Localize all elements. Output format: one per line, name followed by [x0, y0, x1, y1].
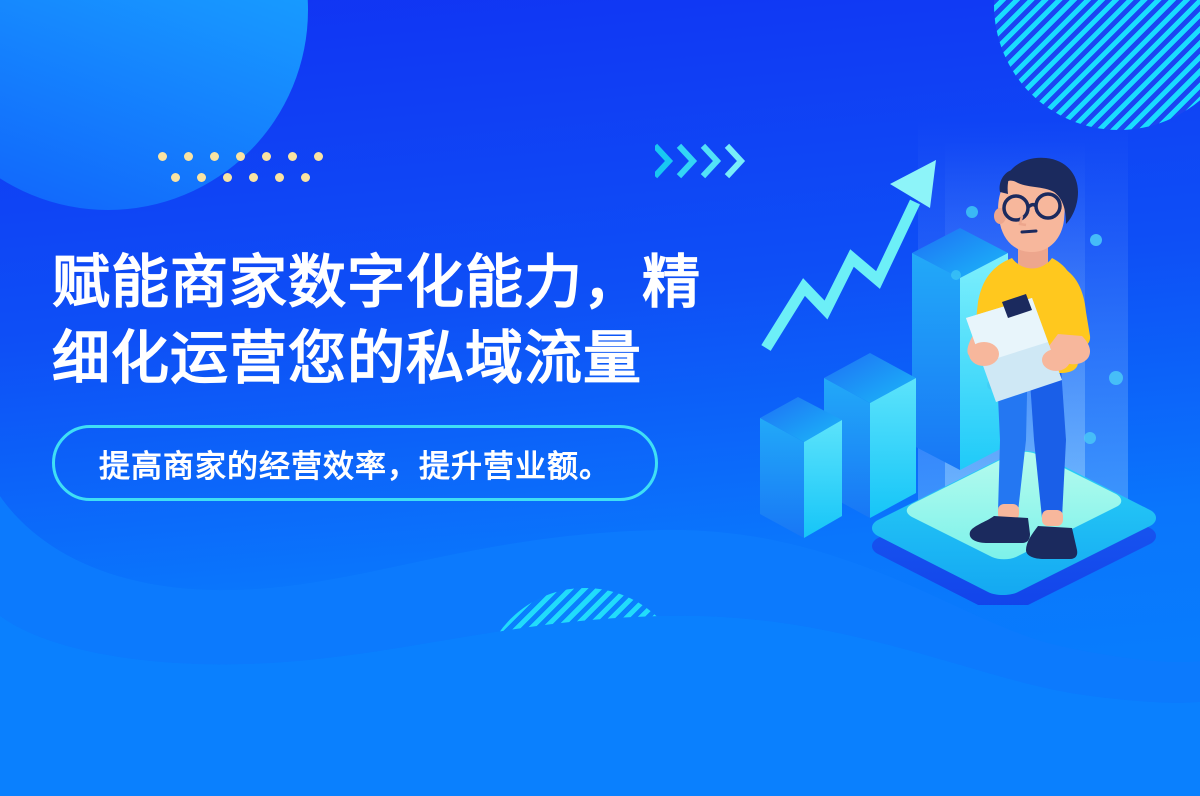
dot — [158, 152, 167, 161]
dot — [236, 152, 245, 161]
striped-circle-bottom-center — [480, 588, 690, 796]
page-headline: 赋能商家数字化能力，精 细化运营您的私域流量 — [52, 245, 792, 397]
dot — [197, 173, 206, 182]
subtitle-pill: 提高商家的经营效率，提升营业额。 — [52, 425, 658, 501]
dot — [171, 173, 180, 182]
chevron-right-icons — [655, 142, 755, 182]
dot — [249, 173, 258, 182]
headline-line-1: 赋能商家数字化能力，精 — [52, 245, 792, 321]
marketing-banner: 赋能商家数字化能力，精 细化运营您的私域流量 提高商家的经营效率，提升营业额。 — [0, 0, 1200, 796]
growth-arrow-icon — [766, 160, 936, 348]
dot — [301, 173, 310, 182]
dot — [223, 173, 232, 182]
dot-pattern-decoration — [158, 152, 328, 186]
subtitle-text: 提高商家的经营效率，提升营业额。 — [99, 441, 611, 486]
hand-left — [969, 342, 999, 366]
hero-illustration — [760, 140, 1200, 605]
dot — [275, 173, 284, 182]
dot — [262, 152, 271, 161]
mouth — [1022, 231, 1036, 232]
hand-right — [1042, 349, 1070, 371]
bar-chart-column-1 — [760, 397, 842, 538]
dot — [184, 152, 193, 161]
dot — [314, 152, 323, 161]
striped-circle-top-right — [994, 0, 1200, 130]
dot — [210, 152, 219, 161]
ankle-back — [1042, 510, 1063, 526]
headline-line-2: 细化运营您的私域流量 — [52, 321, 792, 397]
dot — [288, 152, 297, 161]
